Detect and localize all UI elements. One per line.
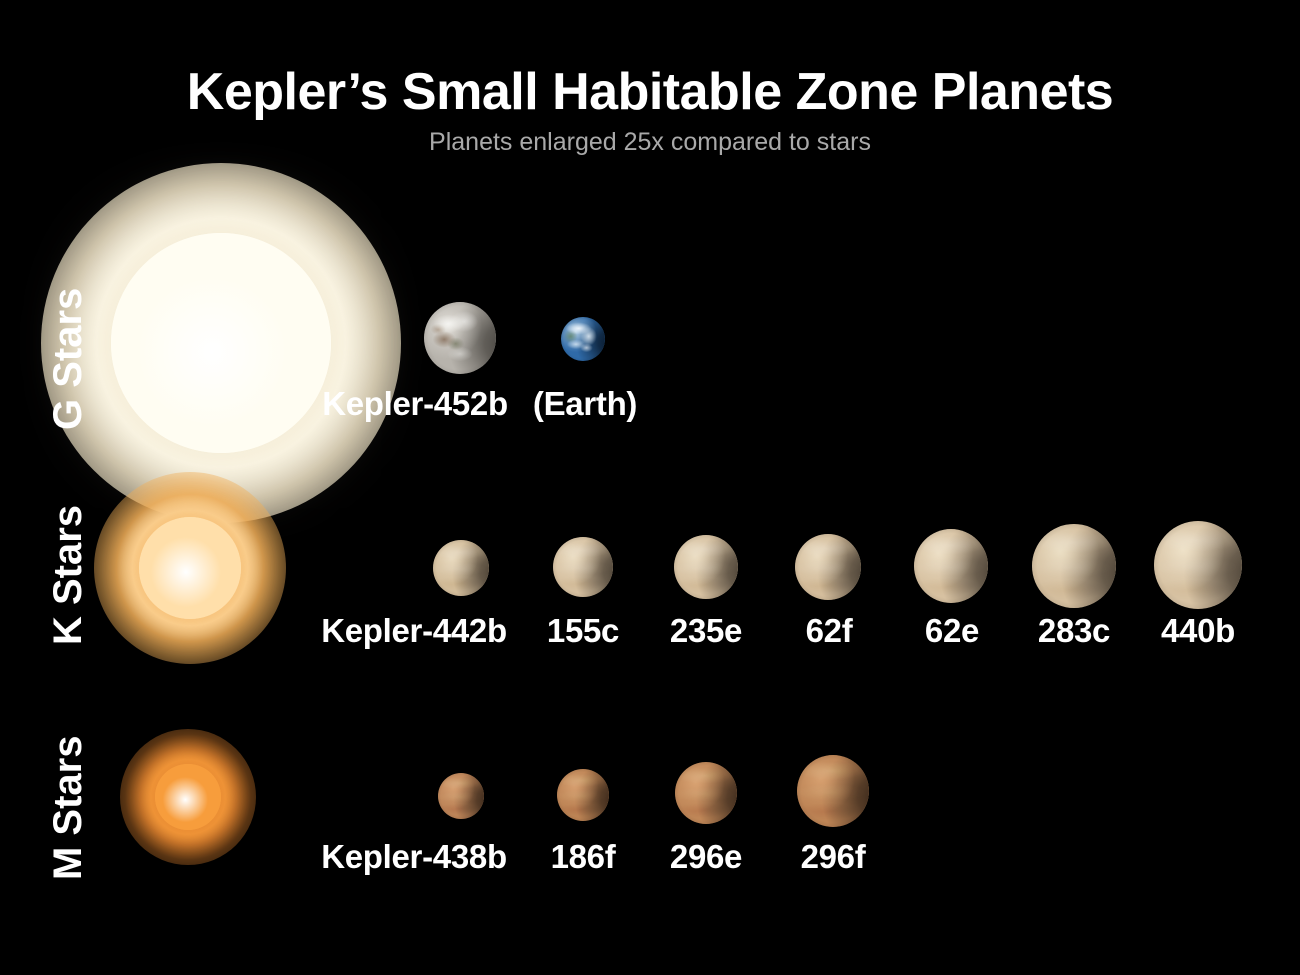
page-title: Kepler’s Small Habitable Zone Planets: [0, 62, 1300, 122]
planet-296f[interactable]: [797, 755, 869, 827]
planet-kepler-452b[interactable]: [424, 302, 496, 374]
planet-283c[interactable]: [1032, 524, 1116, 608]
planet-limb-darkening: [795, 534, 861, 600]
planet-limb-darkening: [438, 773, 484, 819]
planet-limb-darkening: [433, 540, 489, 596]
planet-limb-darkening: [1154, 521, 1242, 609]
planet-limb-darkening: [914, 529, 988, 603]
planet-limb-darkening: [553, 537, 613, 597]
m-star-disk[interactable]: [155, 764, 221, 830]
planet-235e[interactable]: [674, 535, 738, 599]
infographic-canvas: Kepler’s Small Habitable Zone Planets Pl…: [0, 0, 1300, 975]
planet-label-62e: 62e: [925, 612, 979, 650]
planet-limb-darkening: [675, 762, 737, 824]
planet-label-296e: 296e: [670, 838, 742, 876]
planet-label-kepler-452b: Kepler-452b: [322, 385, 508, 423]
row-label-k-stars: K Stars: [46, 505, 91, 645]
planet-label-kepler-438b: Kepler-438b: [321, 838, 507, 876]
planet-label-earth: (Earth): [533, 385, 637, 423]
planet-label-440b: 440b: [1161, 612, 1235, 650]
planet-296e[interactable]: [675, 762, 737, 824]
planet-limb-darkening: [1032, 524, 1116, 608]
planet-limb-darkening: [557, 769, 609, 821]
planet-earth[interactable]: [561, 317, 605, 361]
planet-label-283c: 283c: [1038, 612, 1110, 650]
planet-62f[interactable]: [795, 534, 861, 600]
planet-label-186f: 186f: [551, 838, 616, 876]
planet-440b[interactable]: [1154, 521, 1242, 609]
planet-kepler-442b[interactable]: [433, 540, 489, 596]
planet-limb-darkening: [674, 535, 738, 599]
planet-155c[interactable]: [553, 537, 613, 597]
planet-186f[interactable]: [557, 769, 609, 821]
planet-limb-darkening: [797, 755, 869, 827]
planet-limb-darkening: [561, 317, 605, 361]
page-subtitle: Planets enlarged 25x compared to stars: [0, 128, 1300, 157]
planet-label-296f: 296f: [801, 838, 866, 876]
row-label-m-stars: M Stars: [46, 736, 91, 881]
k-star-disk[interactable]: [139, 517, 241, 619]
planet-label-155c: 155c: [547, 612, 619, 650]
g-star-disk[interactable]: [111, 233, 331, 453]
planet-62e[interactable]: [914, 529, 988, 603]
row-label-g-stars: G Stars: [46, 288, 91, 430]
planet-label-62f: 62f: [806, 612, 853, 650]
planet-label-235e: 235e: [670, 612, 742, 650]
planet-kepler-438b[interactable]: [438, 773, 484, 819]
planet-limb-darkening: [424, 302, 496, 374]
planet-label-kepler-442b: Kepler-442b: [321, 612, 507, 650]
